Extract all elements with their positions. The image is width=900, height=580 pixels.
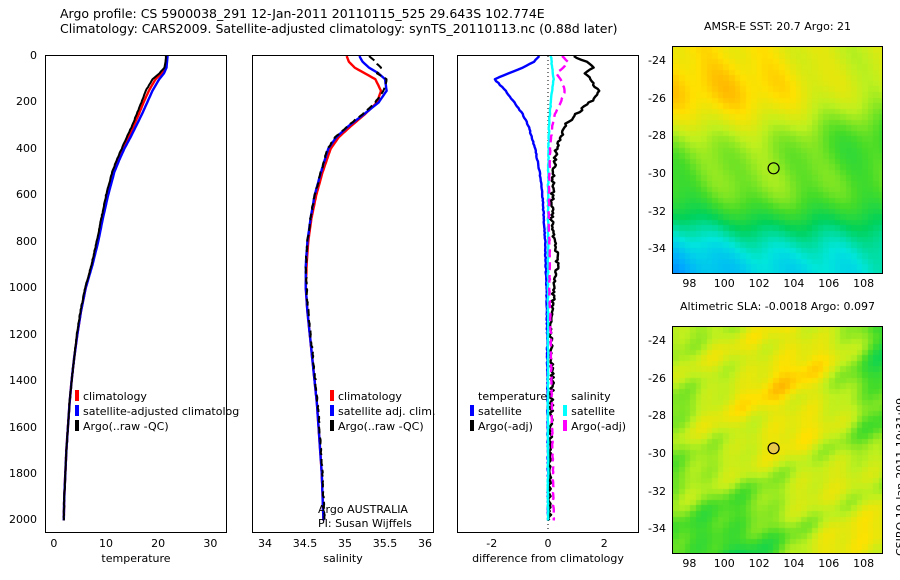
y-tick-label: 1400	[9, 374, 37, 387]
map-y-tick-label: -26	[648, 372, 666, 385]
y-tick-label: 400	[16, 142, 37, 155]
csiro-timestamp: CSIRO 19-Jan-2011 10:31:09	[894, 398, 900, 556]
map-x-tick-label: 98	[682, 277, 696, 290]
x-tick-label: 0	[545, 537, 552, 550]
map-x-tick-label: 102	[749, 557, 770, 570]
y-tick-label: 0	[30, 49, 37, 62]
difference-legend-salinity: salinity satellite Argo(-adj)	[563, 390, 626, 433]
salinity-panel[interactable]	[252, 55, 434, 533]
x-tick-label: 10	[99, 537, 113, 550]
legend-swatch-sal-satellite	[563, 405, 567, 416]
sst-map[interactable]	[672, 46, 883, 274]
map-x-tick-label: 104	[783, 557, 804, 570]
profile-curve	[306, 56, 381, 520]
sst-map-title: AMSR-E SST: 20.7 Argo: 21	[665, 20, 890, 33]
y-tick-label: 1800	[9, 467, 37, 480]
legend-label: Argo(..raw -QC)	[338, 420, 424, 433]
legend-label: Argo(-adj)	[478, 420, 533, 433]
sla-xticks: 98100102104106108	[672, 557, 883, 572]
map-y-tick-label: -28	[648, 129, 666, 142]
legend-swatch-temp-argo	[470, 420, 474, 431]
x-tick-label: 35	[338, 537, 352, 550]
y-tick-label: 600	[16, 188, 37, 201]
map-y-tick-label: -34	[648, 242, 666, 255]
legend-label: satellite	[571, 405, 615, 418]
profile-curve	[305, 56, 386, 520]
legend-swatch-climatology	[75, 390, 79, 401]
legend-swatch-argo	[75, 420, 79, 431]
salinity-axis-label: salinity	[252, 552, 434, 565]
temperature-xticks: 0102030	[45, 536, 227, 552]
legend-label: satellite	[478, 405, 522, 418]
legend-swatch-sal-argo	[563, 420, 567, 431]
map-x-tick-label: 108	[853, 557, 874, 570]
legend-item: Argo(-adj)	[563, 420, 626, 433]
profile-curve	[548, 56, 599, 520]
legend-swatch-satellite	[75, 405, 79, 416]
y-tick-label: 1600	[9, 421, 37, 434]
salinity-plot	[253, 56, 433, 532]
map-x-tick-label: 104	[783, 277, 804, 290]
profile-curve	[64, 56, 166, 520]
map-x-tick-label: 108	[853, 277, 874, 290]
credit-org: Argo AUSTRALIA	[318, 503, 412, 516]
map-y-tick-label: -26	[648, 92, 666, 105]
map-y-tick-label: -32	[648, 485, 666, 498]
map-y-tick-label: -34	[648, 522, 666, 535]
y-tick-label: 1000	[9, 281, 37, 294]
y-tick-label: 1200	[9, 328, 37, 341]
x-tick-label: 34.5	[293, 537, 318, 550]
sla-yticks: -24-26-28-30-32-34	[640, 326, 670, 554]
legend-heading: temperature	[470, 390, 547, 403]
x-tick-label: 0	[50, 537, 57, 550]
x-tick-label: 20	[151, 537, 165, 550]
legend-item: Argo(-adj)	[470, 420, 547, 433]
legend-label: Argo(..raw -QC)	[83, 420, 169, 433]
map-y-tick-label: -28	[648, 409, 666, 422]
credit-pi: PI: Susan Wijffels	[318, 517, 412, 530]
map-x-tick-label: 100	[714, 277, 735, 290]
legend-heading: salinity	[563, 390, 626, 403]
map-x-tick-label: 106	[818, 277, 839, 290]
legend-item: satellite adj. clim.	[330, 405, 440, 418]
temperature-plot	[46, 56, 226, 532]
x-tick-label: 30	[203, 537, 217, 550]
map-x-tick-label: 98	[682, 557, 696, 570]
legend-item: Argo(..raw -QC)	[330, 420, 440, 433]
legend-item: satellite-adjusted climatology	[75, 405, 240, 418]
temperature-axis-label: temperature	[45, 552, 227, 565]
legend-item: Argo(..raw -QC)	[75, 420, 240, 433]
figure-title: Argo profile: CS 5900038_291 12-Jan-2011…	[60, 6, 617, 36]
x-tick-label: 36	[418, 537, 432, 550]
legend-label: Argo(-adj)	[571, 420, 626, 433]
map-y-tick-label: -24	[648, 54, 666, 67]
legend-label: satellite adj. clim.	[338, 405, 435, 418]
figure-title-line1: Argo profile: CS 5900038_291 12-Jan-2011…	[60, 6, 617, 21]
salinity-legend: climatology satellite adj. clim. Argo(..…	[330, 390, 440, 433]
map-y-tick-label: -30	[648, 447, 666, 460]
map-y-tick-label: -32	[648, 205, 666, 218]
map-y-tick-label: -30	[648, 167, 666, 180]
x-tick-label: 35.5	[373, 537, 398, 550]
legend-swatch-climatology	[330, 390, 334, 401]
sla-float-marker-layer	[673, 327, 883, 554]
map-x-tick-label: 106	[818, 557, 839, 570]
map-y-tick-label: -24	[648, 334, 666, 347]
y-tick-label: 200	[16, 95, 37, 108]
difference-panel[interactable]	[457, 55, 639, 533]
legend-swatch-satellite	[330, 405, 334, 416]
x-tick-label: -2	[486, 537, 497, 550]
y-tick-label: 2000	[9, 513, 37, 526]
profile-curve	[64, 56, 167, 520]
sst-yticks: -24-26-28-30-32-34	[640, 46, 670, 274]
salinity-xticks: 3434.53535.536	[252, 536, 434, 552]
profile-curve	[306, 56, 387, 520]
profile-curve	[64, 56, 168, 520]
difference-xticks: -202	[457, 536, 639, 552]
map-x-tick-label: 100	[714, 557, 735, 570]
legend-item: satellite	[563, 405, 626, 418]
temperature-panel[interactable]	[45, 55, 227, 533]
x-tick-label: 34	[258, 537, 272, 550]
difference-legend: temperature satellite Argo(-adj) salinit…	[470, 390, 640, 433]
temperature-legend: climatology satellite-adjusted climatolo…	[75, 390, 240, 433]
sla-map[interactable]	[672, 326, 883, 554]
figure-title-line2: Climatology: CARS2009. Satellite-adjuste…	[60, 21, 617, 36]
legend-item: climatology	[75, 390, 240, 403]
float-position-marker	[768, 443, 779, 454]
sst-xticks: 98100102104106108	[672, 277, 883, 292]
sla-map-title: Altimetric SLA: -0.0018 Argo: 0.097	[660, 300, 895, 313]
difference-legend-temperature: temperature satellite Argo(-adj)	[470, 390, 547, 433]
y-tick-label: 800	[16, 235, 37, 248]
sst-float-marker-layer	[673, 47, 883, 274]
legend-label: climatology	[83, 390, 147, 403]
legend-swatch-temp-satellite	[470, 405, 474, 416]
map-x-tick-label: 102	[749, 277, 770, 290]
difference-plot	[458, 56, 638, 532]
legend-label: climatology	[338, 390, 402, 403]
legend-item: satellite	[470, 405, 547, 418]
x-tick-label: 2	[601, 537, 608, 550]
legend-swatch-argo	[330, 420, 334, 431]
credit-block: Argo AUSTRALIA PI: Susan Wijffels	[318, 503, 412, 530]
temperature-yticks: 0200400600800100012001400160018002000	[0, 55, 43, 533]
difference-axis-label: difference from climatology	[440, 552, 656, 565]
float-position-marker	[768, 163, 779, 174]
profile-curve	[495, 56, 548, 520]
legend-item: climatology	[330, 390, 440, 403]
legend-label: satellite-adjusted climatology	[83, 405, 240, 418]
